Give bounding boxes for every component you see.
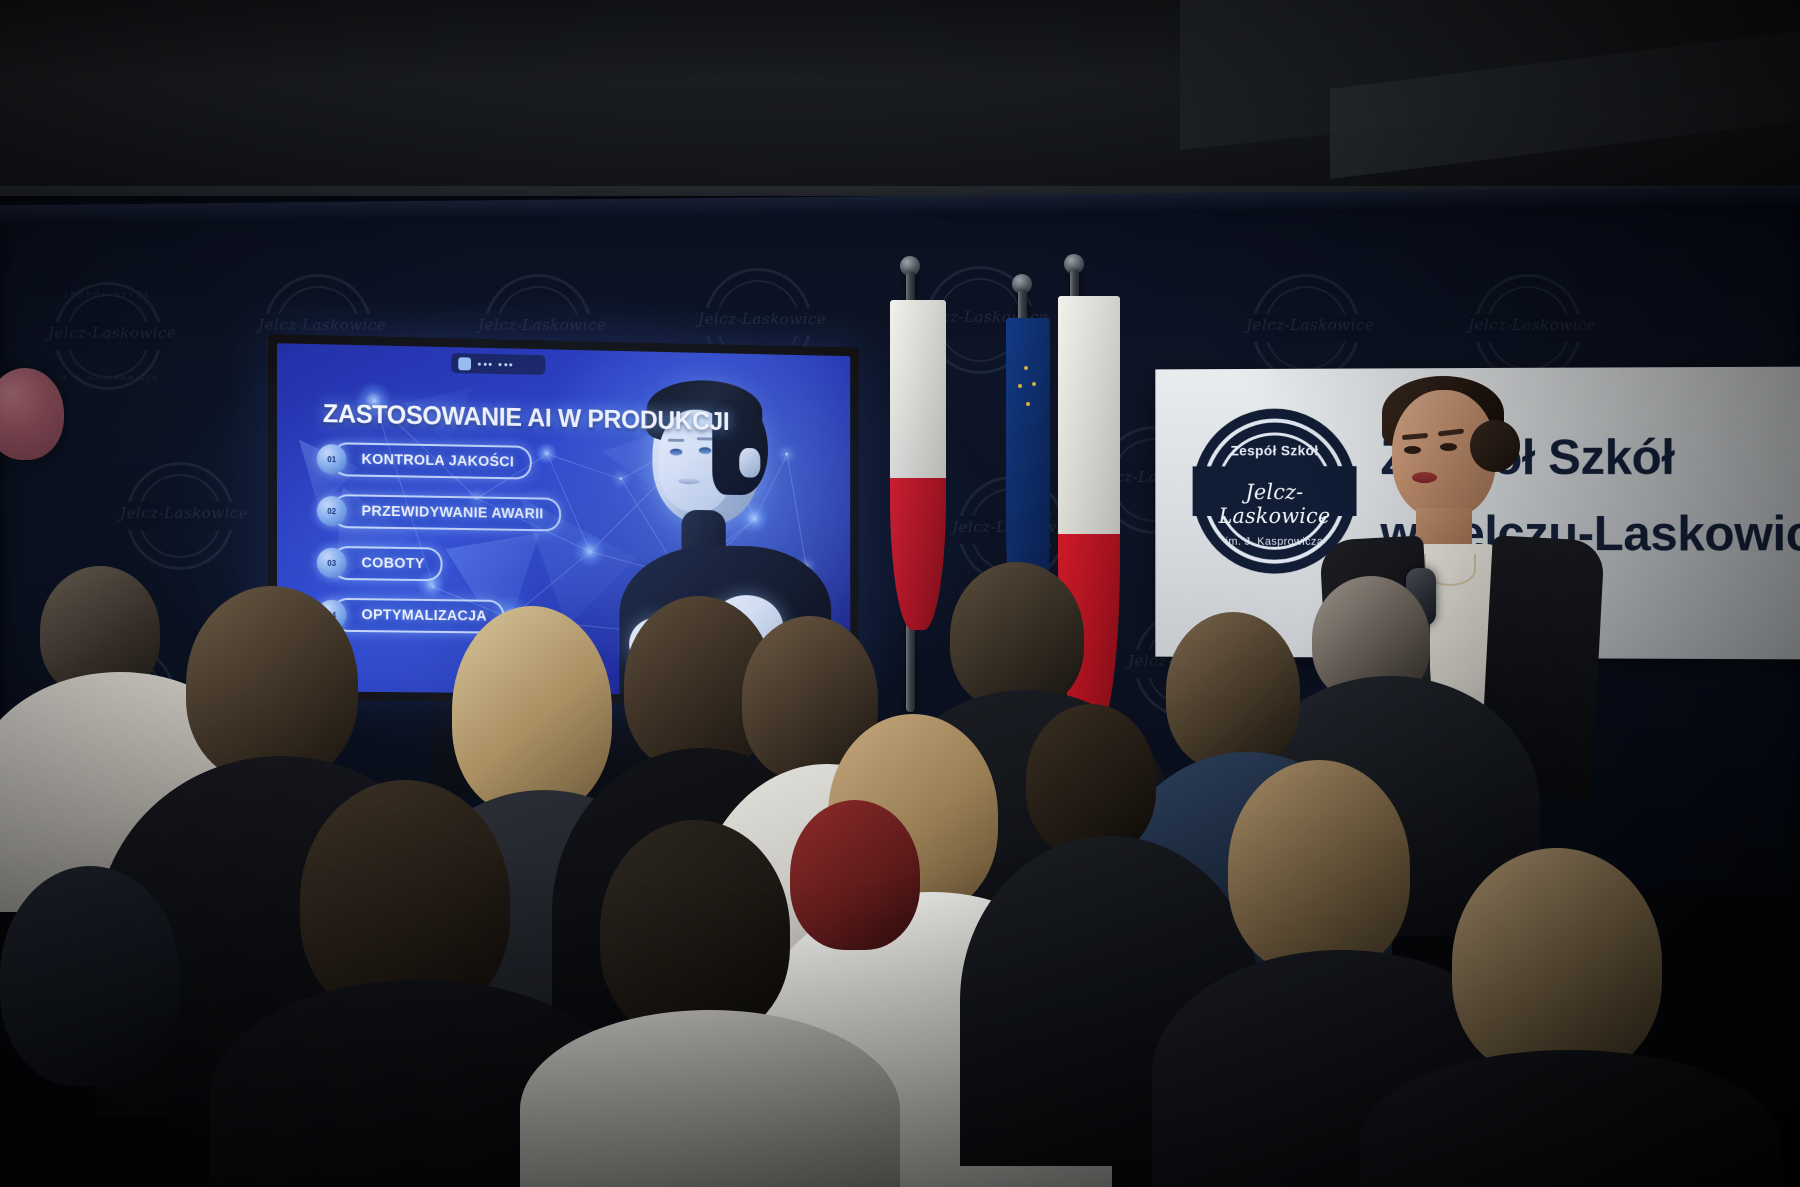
- list-item: 02 PRZEWIDYWANIE AWARII: [317, 496, 561, 530]
- audience-head: [1166, 612, 1300, 770]
- list-item: 01 KONTROLA JAKOŚCI: [317, 444, 561, 478]
- audience-head: [790, 800, 920, 950]
- audience-head: [1452, 848, 1662, 1078]
- more-options-icon[interactable]: [478, 362, 492, 365]
- bullet-number: 01: [317, 444, 347, 474]
- list-item: 03 COBOTY: [317, 548, 561, 581]
- more-options-icon-secondary[interactable]: [498, 363, 512, 366]
- audience-head: [452, 606, 612, 814]
- slide-bullet-list: 01 KONTROLA JAKOŚCI 02 PRZEWIDYWANIE AWA…: [317, 444, 561, 632]
- conference-photo-scene: ZESPÓŁ SZKÓŁ Jelcz-Laskowice IM. J. KASP…: [0, 0, 1800, 1187]
- audience-head: [186, 586, 358, 782]
- audience-head: [1228, 760, 1410, 974]
- audience-head: [950, 562, 1084, 710]
- bullet-label: KONTROLA JAKOŚCI: [332, 442, 532, 479]
- presentation-toolbar[interactable]: [451, 353, 545, 375]
- audience-head: [1026, 704, 1156, 856]
- bullet-label: PRZEWIDYWANIE AWARII: [332, 494, 561, 531]
- presentation-app-icon: [458, 357, 471, 370]
- bullet-number: 03: [317, 548, 347, 578]
- bullet-label: OPTYMALIZACJA: [332, 598, 505, 634]
- poland-flag-left: [890, 300, 946, 630]
- audience-head: [600, 820, 790, 1040]
- bullet-number: 02: [317, 496, 347, 526]
- bullet-label: COBOTY: [332, 546, 443, 581]
- audience-head: [0, 866, 180, 1086]
